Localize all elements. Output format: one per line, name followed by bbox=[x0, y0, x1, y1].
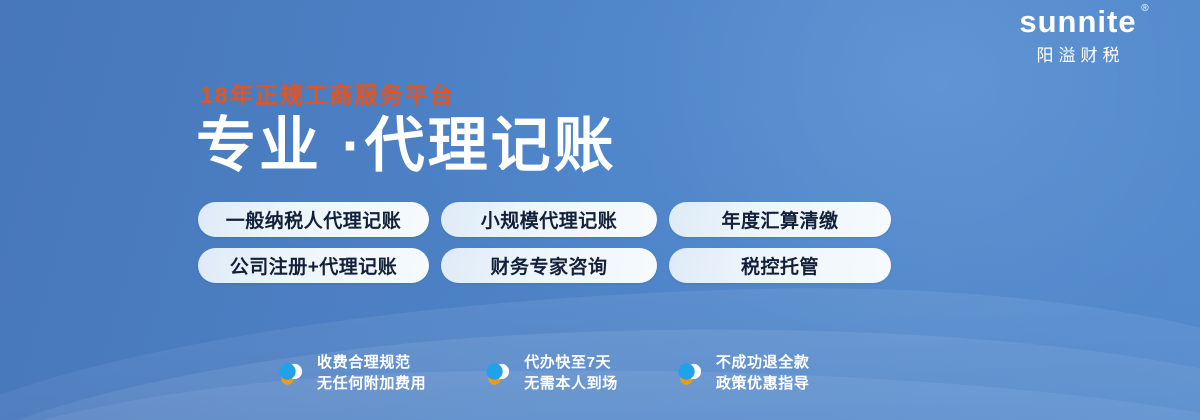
promo-banner: sunnite ® 阳溢财税 18年正规工商服务平台 专业 ·代理记账 一般纳税… bbox=[0, 0, 1200, 420]
feature-line-2: 无需本人到场 bbox=[524, 373, 618, 394]
brand-chinese-name: 阳溢财税 bbox=[978, 41, 1178, 66]
service-pill[interactable]: 税控托管 bbox=[669, 248, 891, 283]
service-pill-row: 一般纳税人代理记账 小规模代理记账 年度汇算清缴 bbox=[198, 202, 891, 237]
page-title: 专业 ·代理记账 bbox=[196, 112, 617, 179]
feature-line-2: 无任何附加费用 bbox=[317, 373, 426, 394]
brand-wordmark-text: sunnite bbox=[1019, 4, 1136, 39]
service-pill[interactable]: 小规模代理记账 bbox=[441, 202, 657, 237]
service-pill-group: 一般纳税人代理记账 小规模代理记账 年度汇算清缴 公司注册+代理记账 财务专家咨… bbox=[198, 202, 891, 294]
feature-text: 收费合理规范 无任何附加费用 bbox=[317, 352, 426, 395]
background-wave-1 bbox=[0, 273, 1200, 420]
circle-badge-icon bbox=[483, 358, 513, 388]
service-pill[interactable]: 年度汇算清缴 bbox=[669, 202, 891, 237]
service-pill-row: 公司注册+代理记账 财务专家咨询 税控托管 bbox=[198, 248, 891, 283]
feature-text: 代办快至7天 无需本人到场 bbox=[524, 352, 618, 395]
service-pill[interactable]: 公司注册+代理记账 bbox=[198, 248, 429, 283]
feature-line-1: 代办快至7天 bbox=[524, 352, 618, 373]
feature-line-1: 不成功退全款 bbox=[716, 352, 810, 373]
feature-line-1: 收费合理规范 bbox=[317, 352, 426, 373]
circle-badge-icon bbox=[276, 358, 306, 388]
feature-item: 不成功退全款 政策优惠指导 bbox=[675, 352, 810, 395]
feature-text: 不成功退全款 政策优惠指导 bbox=[716, 352, 810, 395]
brand-logo[interactable]: sunnite ® 阳溢财税 bbox=[978, 6, 1178, 66]
service-pill[interactable]: 一般纳税人代理记账 bbox=[198, 202, 429, 237]
feature-item: 代办快至7天 无需本人到场 bbox=[483, 352, 618, 395]
feature-strip: 收费合理规范 无任何附加费用 代办快至7天 无需本人到场 bbox=[276, 352, 809, 395]
feature-line-2: 政策优惠指导 bbox=[716, 373, 810, 394]
registered-trademark-icon: ® bbox=[1141, 4, 1149, 14]
eyebrow-text: 18年正规工商服务平台 bbox=[200, 76, 455, 110]
brand-wordmark: sunnite ® bbox=[1019, 6, 1136, 39]
feature-item: 收费合理规范 无任何附加费用 bbox=[276, 352, 426, 395]
circle-badge-icon bbox=[675, 358, 705, 388]
service-pill[interactable]: 财务专家咨询 bbox=[441, 248, 657, 283]
